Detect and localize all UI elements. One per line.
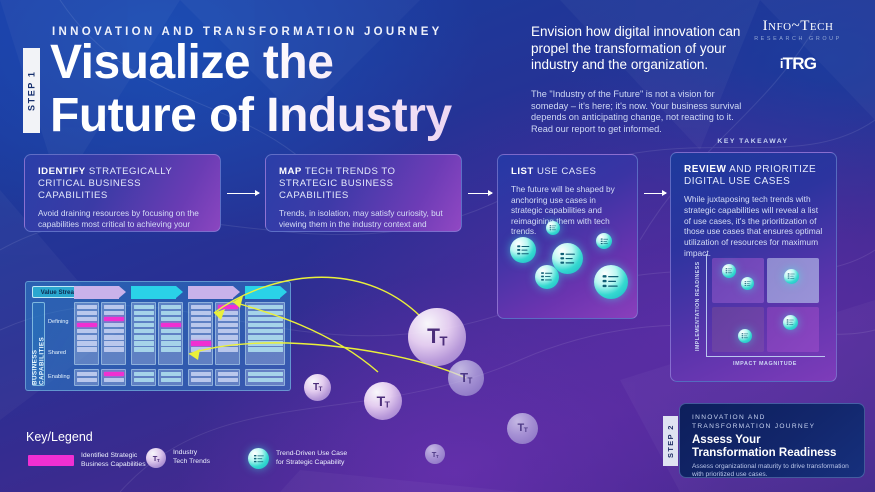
- tech-trend-label: TT: [432, 450, 438, 459]
- capability-cell: [191, 323, 211, 328]
- capability-cell: [191, 335, 211, 340]
- capability-cell: [218, 329, 238, 334]
- card-identify-title: IDENTIFY STRATEGICALLY CRITICAL BUSINESS…: [38, 166, 207, 202]
- capability-subcolumn: [188, 302, 213, 365]
- capability-cell-highlighted: [218, 305, 238, 310]
- info-tech-wordmark: INFO~TECH: [743, 18, 853, 35]
- capability-subcolumn: [74, 369, 99, 386]
- magenta-swatch-icon: [28, 455, 74, 466]
- header-lede: Envision how digital innovation can prop…: [531, 24, 743, 74]
- capability-cell: [134, 378, 154, 383]
- card-identify-title-bold: IDENTIFY: [38, 166, 86, 177]
- capability-cell: [161, 317, 181, 322]
- capability-cell: [77, 341, 97, 346]
- flow-arrow-3-icon: [644, 193, 666, 194]
- use-case-bubble-icon: [741, 277, 754, 290]
- tech-trend-label: TT: [153, 454, 159, 463]
- step-2-eyebrow-line-2: TRANSFORMATION JOURNEY: [692, 423, 815, 430]
- legend-line-2: Business Capabilities: [81, 461, 146, 468]
- value-stream-diagram: Value Stream BUSINESS CAPABILITIES Defin…: [25, 281, 291, 391]
- capability-cell: [161, 372, 181, 377]
- page-title-line-2: Future of Industry: [50, 89, 452, 142]
- tech-trend-bubble: TT: [448, 360, 484, 396]
- value-stream-column-4: [245, 286, 287, 299]
- use-case-bubble-icon: [596, 233, 612, 249]
- use-case-bubble-icon: [248, 448, 269, 469]
- card-map[interactable]: MAP TECH TRENDS TO STRATEGIC BUSINESS CA…: [265, 154, 462, 232]
- legend-item-tech-trends-text: Industry Tech Trends: [173, 449, 210, 466]
- capability-cell: [134, 347, 154, 352]
- capability-cell-highlighted: [161, 323, 181, 328]
- capability-subcolumn: [131, 369, 156, 386]
- capability-cell: [191, 311, 211, 316]
- capability-cell: [161, 347, 181, 352]
- tech-trend-bubble: TT: [408, 308, 466, 366]
- capability-grid-2: [131, 302, 183, 365]
- use-case-bubble-icon: [546, 221, 560, 235]
- capability-cell: [248, 347, 283, 352]
- brand-logo: INFO~TECH RESEARCH GROUP iTRG: [743, 18, 853, 74]
- card-review-title: REVIEW AND PRIORITIZE DIGITAL USE CASES: [684, 164, 823, 188]
- value-stream-column-2: [131, 286, 183, 299]
- capability-cell-highlighted: [104, 372, 124, 377]
- enabling-grid-1: [74, 369, 126, 386]
- capability-cell-highlighted: [104, 317, 124, 322]
- capability-cell: [248, 317, 283, 322]
- chevron-arrow-icon: [245, 286, 287, 299]
- capability-cell: [218, 323, 238, 328]
- step-2-badge: STEP 2: [663, 416, 678, 466]
- step-2-section[interactable]: STEP 2 INNOVATION AND TRANSFORMATION JOU…: [663, 403, 865, 478]
- capability-cell: [77, 347, 97, 352]
- capability-cell: [77, 378, 97, 383]
- logo-nfo: NFO: [768, 21, 792, 33]
- card-map-body: Trends, in isolation, may satisfy curios…: [279, 208, 448, 232]
- capability-cell: [248, 335, 283, 340]
- capability-cell: [77, 305, 97, 310]
- capability-cell: [134, 323, 154, 328]
- value-stream-column-3: [188, 286, 240, 299]
- chevron-arrow-icon: [188, 286, 240, 299]
- capability-cell: [104, 378, 124, 383]
- row-label-defining: Defining: [48, 319, 69, 325]
- capability-subcolumn: [101, 369, 126, 386]
- step-2-title-line-2: Transformation Readiness: [692, 447, 836, 459]
- use-case-bubble-icon: [594, 265, 628, 299]
- matrix-quadrant-top-left: [712, 258, 764, 303]
- legend-line-1: Trend-Driven Use Case: [276, 450, 347, 457]
- step-1-badge: STEP 1: [23, 48, 40, 133]
- card-review-body: While juxtaposing tech trends with strat…: [684, 194, 823, 259]
- info-tech-tagline: RESEARCH GROUP: [743, 36, 853, 42]
- value-stream-column-1: [74, 286, 126, 299]
- tech-trend-label: TT: [377, 393, 390, 410]
- legend-item-tech-trends: TT Industry Tech Trends: [146, 448, 210, 468]
- capability-cell: [77, 311, 97, 316]
- capability-cell: [191, 305, 211, 310]
- capability-cell: [77, 372, 97, 377]
- capability-cell: [77, 317, 97, 322]
- chevron-arrow-icon: [74, 286, 126, 299]
- capability-cell: [104, 305, 124, 310]
- card-list-title-rest: USE CASES: [534, 166, 597, 177]
- capability-cell: [161, 378, 181, 383]
- step-2-body: Assess organizational maturity to drive …: [692, 463, 852, 478]
- capability-cell: [161, 335, 181, 340]
- card-identify-body: Avoid draining resources by focusing on …: [38, 208, 207, 232]
- capability-cell: [134, 335, 154, 340]
- legend-item-capabilities-text: Identified Strategic Business Capabiliti…: [81, 452, 146, 469]
- capability-cell: [191, 372, 211, 377]
- capability-subcolumn: [158, 369, 183, 386]
- card-map-title-bold: MAP: [279, 166, 302, 177]
- use-case-bubble-icon: [738, 329, 752, 343]
- capability-subcolumn: [245, 302, 285, 365]
- step-2-eyebrow: INNOVATION AND TRANSFORMATION JOURNEY: [692, 413, 852, 431]
- tech-trend-bubble: TT: [364, 382, 402, 420]
- capability-cell: [161, 305, 181, 310]
- logo-ech: ECH: [810, 21, 834, 33]
- card-map-title: MAP TECH TRENDS TO STRATEGIC BUSINESS CA…: [279, 166, 448, 202]
- header-sublede: The "Industry of the Future" is not a vi…: [531, 89, 746, 135]
- card-identify[interactable]: IDENTIFY STRATEGICALLY CRITICAL BUSINESS…: [24, 154, 221, 232]
- tech-trend-bubble: TT: [304, 374, 331, 401]
- itrg-mark: iTRG: [743, 54, 853, 74]
- capability-cell: [218, 311, 238, 316]
- tech-trend-bubble: TT: [507, 413, 538, 444]
- capability-cell: [104, 341, 124, 346]
- row-label-enabling: Enabling: [48, 374, 70, 380]
- capability-subcolumn: [158, 302, 183, 365]
- capability-cell: [104, 347, 124, 352]
- capability-cell: [248, 305, 283, 310]
- capability-cell: [77, 329, 97, 334]
- card-list-title: LIST USE CASES: [511, 166, 624, 178]
- step-2-card[interactable]: INNOVATION AND TRANSFORMATION JOURNEY As…: [679, 403, 865, 478]
- tech-trend-label: TT: [427, 325, 447, 349]
- capability-cell: [191, 347, 211, 352]
- legend-line-1: Identified Strategic: [81, 452, 137, 459]
- capability-cell: [218, 335, 238, 340]
- legend-item-capabilities: Identified Strategic Business Capabiliti…: [28, 452, 146, 469]
- matrix-x-axis-label: IMPACT MAGNITUDE: [706, 361, 824, 367]
- capability-cell: [248, 329, 283, 334]
- capability-cell: [248, 372, 283, 377]
- capability-subcolumn: [101, 302, 126, 365]
- matrix-y-axis-label: IMPLEMENTATION READINESS: [692, 256, 704, 356]
- card-list-body: The future will be shaped by anchoring u…: [511, 184, 624, 237]
- capability-cell: [134, 305, 154, 310]
- tech-trend-label: TT: [460, 370, 472, 385]
- chevron-arrow-icon: [131, 286, 183, 299]
- capability-cell: [161, 311, 181, 316]
- capability-subcolumn: [131, 302, 156, 365]
- capability-cell: [134, 329, 154, 334]
- legend-item-use-cases: Trend-Driven Use Case for Strategic Capa…: [248, 448, 347, 469]
- page-title-line-1: Visualize the: [50, 36, 333, 89]
- prioritization-matrix: IMPLEMENTATION READINESS IMPACT MAGNITUD…: [712, 258, 822, 353]
- logo-tilde-t: ~T: [792, 18, 810, 34]
- tech-trend-bubble: TT: [425, 444, 445, 464]
- matrix-x-axis: [706, 356, 825, 357]
- tech-trend-label: TT: [313, 382, 322, 393]
- capability-cell: [77, 335, 97, 340]
- enabling-grid-4: [245, 369, 285, 386]
- capability-cell: [218, 341, 238, 346]
- capability-cell: [134, 317, 154, 322]
- legend-title: Key/Legend: [26, 430, 93, 444]
- step-2-eyebrow-line-1: INNOVATION AND: [692, 414, 766, 421]
- legend-item-use-cases-text: Trend-Driven Use Case for Strategic Capa…: [276, 450, 347, 467]
- capability-cell: [248, 323, 283, 328]
- enabling-grid-2: [131, 369, 183, 386]
- capability-cell: [248, 311, 283, 316]
- capability-cell: [218, 372, 238, 377]
- matrix-y-axis: [706, 254, 707, 357]
- capability-cell: [161, 341, 181, 346]
- step-2-title: Assess Your Transformation Readiness: [692, 434, 852, 460]
- capability-cell: [218, 317, 238, 322]
- capability-subcolumn: [215, 369, 240, 386]
- use-case-bubble-icon: [535, 265, 559, 289]
- card-list-use-cases[interactable]: LIST USE CASES The future will be shaped…: [497, 154, 638, 319]
- capability-cell: [161, 329, 181, 334]
- flow-arrow-2-icon: [468, 193, 492, 194]
- step-2-title-line-1: Assess Your: [692, 434, 761, 446]
- capability-cell: [134, 341, 154, 346]
- capability-cell: [191, 329, 211, 334]
- legend-line-2: Tech Trends: [173, 458, 210, 465]
- card-list-title-bold: LIST: [511, 166, 534, 177]
- capability-cell-highlighted: [77, 323, 97, 328]
- page-title: Visualize the Future of Industry: [50, 36, 530, 142]
- capability-cell: [104, 329, 124, 334]
- use-case-bubble-icon: [783, 315, 798, 330]
- use-case-bubble-icon: [510, 237, 536, 263]
- capability-cell: [134, 311, 154, 316]
- capability-cell: [218, 347, 238, 352]
- flow-arrow-1-icon: [227, 193, 259, 194]
- capability-cell-highlighted: [191, 341, 211, 346]
- capability-subcolumn: [215, 302, 240, 365]
- capability-cell: [104, 335, 124, 340]
- capability-cell: [104, 323, 124, 328]
- capability-subcolumn: [188, 369, 213, 386]
- use-case-bubble-icon: [722, 264, 736, 278]
- capability-cell: [248, 378, 283, 383]
- capability-cell: [218, 378, 238, 383]
- matrix-quadrant-bottom-left: [712, 307, 764, 352]
- key-takeaway-label: KEY TAKEAWAY: [669, 138, 837, 145]
- capability-cell: [191, 317, 211, 322]
- business-capabilities-label: BUSINESS CAPABILITIES: [32, 302, 45, 386]
- tech-trend-bubble-icon: TT: [146, 448, 166, 468]
- itrg-trg: TRG: [783, 54, 816, 73]
- legend-line-2: for Strategic Capability: [276, 459, 344, 466]
- use-case-bubble-icon: [784, 269, 799, 284]
- card-review-title-bold: REVIEW: [684, 164, 726, 175]
- enabling-grid-3: [188, 369, 240, 386]
- capability-cell: [104, 311, 124, 316]
- tech-trend-label: TT: [518, 422, 528, 434]
- capability-grid-4: [245, 302, 285, 365]
- capability-cell: [248, 341, 283, 346]
- capability-cell: [134, 372, 154, 377]
- capability-grid-1: [74, 302, 126, 365]
- infographic-canvas: STEP 1 INNOVATION AND TRANSFORMATION JOU…: [0, 0, 875, 492]
- capability-subcolumn: [74, 302, 99, 365]
- legend-line-1: Industry: [173, 449, 197, 456]
- capability-cell: [191, 378, 211, 383]
- row-label-shared: Shared: [48, 350, 66, 356]
- capability-subcolumn: [245, 369, 285, 386]
- capability-grid-3: [188, 302, 240, 365]
